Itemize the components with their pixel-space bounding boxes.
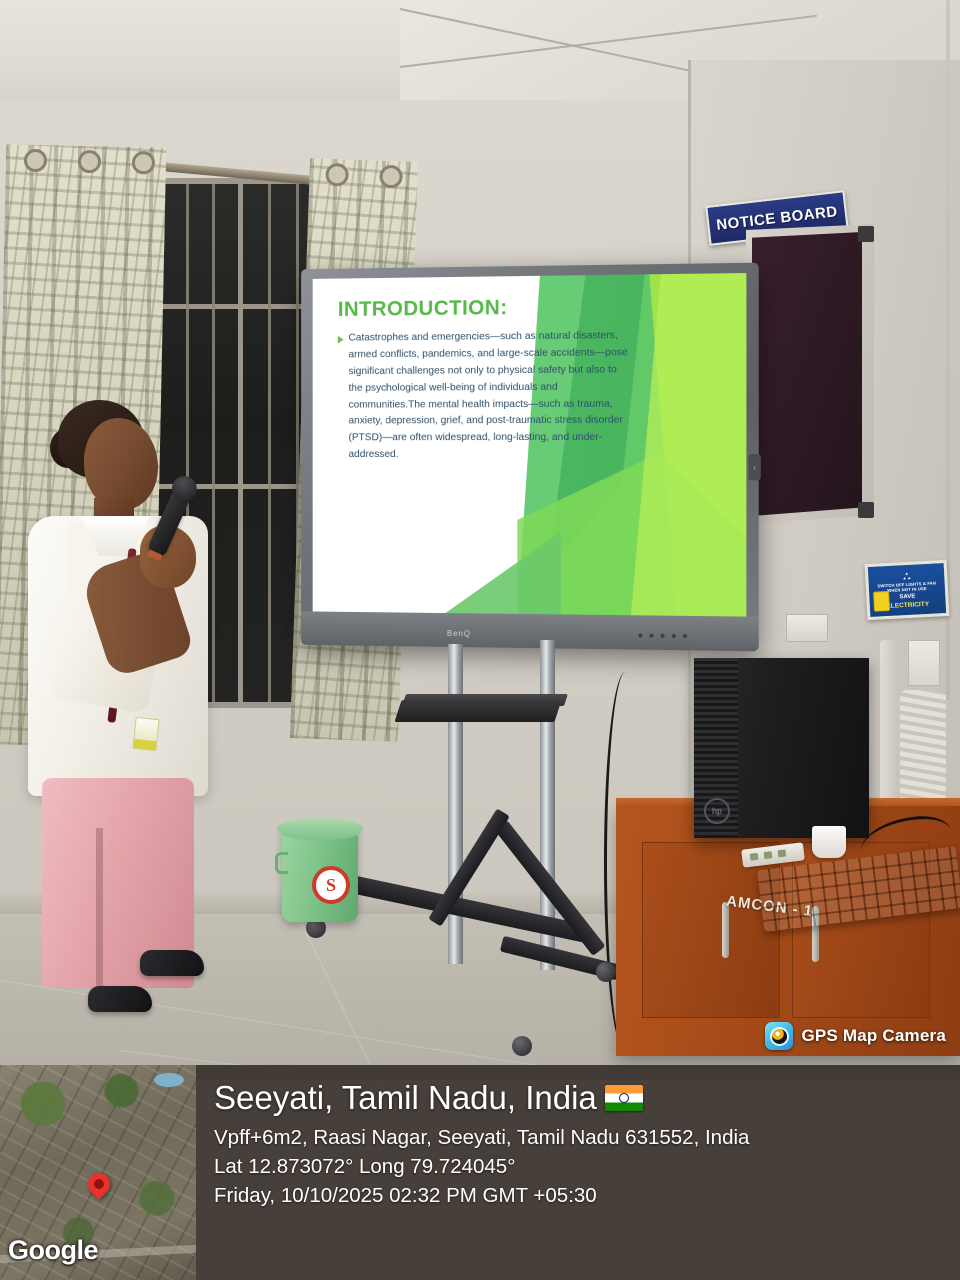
gps-place-row: Seeyati, Tamil Nadu, India bbox=[214, 1081, 946, 1116]
display-control-keys[interactable] bbox=[638, 633, 687, 638]
wall-switch-box-2[interactable] bbox=[908, 640, 940, 686]
presenter-id-badge bbox=[132, 717, 159, 751]
map-thumbnail[interactable]: Google bbox=[0, 1065, 196, 1280]
curtain-grommet-5 bbox=[379, 165, 403, 189]
stand-caster-back bbox=[596, 962, 616, 982]
location-pin-icon bbox=[83, 1168, 114, 1199]
slide-bullet-item: Catastrophes and emergencies—such as nat… bbox=[338, 328, 631, 464]
recycle-icon bbox=[900, 571, 914, 583]
display-bezel-bottom: BenQ bbox=[301, 611, 759, 651]
interactive-display[interactable]: INTRODUCTION: Catastrophes and emergenci… bbox=[301, 263, 759, 652]
waste-bin: S bbox=[282, 826, 358, 922]
gps-address: Vpff+6m2, Raasi Nagar, Seeyati, Tamil Na… bbox=[214, 1123, 946, 1152]
slide-bullet-text: Catastrophes and emergencies—such as nat… bbox=[349, 328, 631, 464]
presenter-shoe-left bbox=[88, 986, 152, 1012]
gps-details: Seeyati, Tamil Nadu, India Vpff+6m2, Raa… bbox=[196, 1065, 960, 1280]
gps-coordinates: Lat 12.873072° Long 79.724045° bbox=[214, 1152, 946, 1181]
notice-board-surface bbox=[752, 232, 862, 516]
stand-shelf bbox=[394, 700, 561, 722]
gps-place-name: Seeyati, Tamil Nadu, India bbox=[214, 1081, 597, 1116]
hp-logo: hp bbox=[704, 798, 730, 824]
desktop-pc-tower: hp bbox=[694, 658, 869, 838]
bin-handle bbox=[275, 852, 288, 874]
presentation-slide: INTRODUCTION: Catastrophes and emergenci… bbox=[313, 273, 747, 617]
remote-button-1[interactable] bbox=[750, 853, 759, 861]
display-side-button[interactable]: ‹ bbox=[748, 454, 760, 480]
id-badge-strip bbox=[133, 739, 156, 750]
slide-content: INTRODUCTION: Catastrophes and emergenci… bbox=[338, 295, 631, 464]
map-watermark: Google bbox=[8, 1235, 98, 1266]
presenter-face bbox=[84, 418, 158, 510]
gps-timestamp: Friday, 10/10/2025 02:32 PM GMT +05:30 bbox=[214, 1181, 946, 1210]
wall-switch-box[interactable] bbox=[786, 614, 828, 642]
display-key-1[interactable] bbox=[638, 633, 642, 637]
notice-board-corner-cap-2 bbox=[858, 502, 874, 518]
camera-lens-icon bbox=[765, 1022, 793, 1050]
lens-glyph bbox=[772, 1029, 787, 1044]
presenter-shoe-right bbox=[140, 950, 204, 976]
remote-button-2[interactable] bbox=[764, 851, 773, 859]
gps-info-bar: Google Seeyati, Tamil Nadu, India Vpff+6… bbox=[0, 1065, 960, 1280]
display-screen: INTRODUCTION: Catastrophes and emergenci… bbox=[313, 273, 747, 617]
presenter bbox=[22, 398, 237, 1038]
notice-board-corner-cap bbox=[858, 226, 874, 242]
microphone-head bbox=[168, 472, 201, 505]
bullet-triangle-icon bbox=[338, 336, 344, 344]
curtain-grommet bbox=[24, 149, 47, 172]
curtain-grommet-4 bbox=[325, 163, 349, 187]
display-key-4[interactable] bbox=[672, 634, 676, 638]
gps-app-name: GPS Map Camera bbox=[801, 1026, 946, 1046]
cabinet-door-left[interactable] bbox=[642, 842, 780, 1018]
electricity-sign-line1: SAVE bbox=[899, 593, 915, 601]
cabinet-handle-left[interactable] bbox=[722, 902, 729, 958]
remote-button-3[interactable] bbox=[777, 849, 786, 857]
bin-logo: S bbox=[312, 866, 350, 904]
window-grill-3 bbox=[268, 184, 271, 702]
window-bar-vertical bbox=[238, 184, 243, 702]
screenshot-root: NOTICE BOARD SWITCH OFF LIGHTS & FAN WHE… bbox=[0, 0, 960, 1280]
electricity-sign-line2: ELECTRICITY bbox=[886, 600, 929, 609]
gps-app-badge: GPS Map Camera bbox=[757, 1019, 954, 1053]
display-key-5[interactable] bbox=[683, 634, 687, 638]
electricity-sign-emblem bbox=[873, 591, 890, 612]
presenter-leg-split bbox=[96, 828, 103, 988]
slide-title: INTRODUCTION: bbox=[338, 295, 631, 322]
save-electricity-sign: SWITCH OFF LIGHTS & FAN WHEN NOT IN USE … bbox=[865, 560, 950, 620]
curtain-grommet-2 bbox=[78, 150, 101, 173]
display-key-3[interactable] bbox=[661, 634, 665, 638]
display-key-2[interactable] bbox=[649, 634, 653, 638]
india-flag-icon bbox=[605, 1085, 643, 1111]
bin-lid bbox=[277, 818, 363, 840]
paper-cup bbox=[812, 826, 846, 858]
map-water-feature bbox=[154, 1073, 184, 1087]
display-brand-logo: BenQ bbox=[447, 629, 471, 638]
stand-caster-right bbox=[512, 1036, 532, 1056]
curtain-grommet-3 bbox=[132, 151, 155, 174]
